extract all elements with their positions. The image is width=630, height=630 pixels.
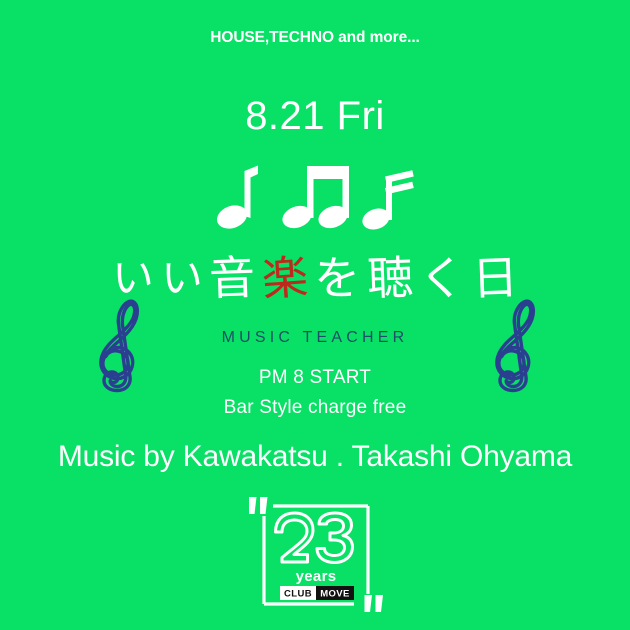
event-flyer: HOUSE,TECHNO and more... 8.21 Fri bbox=[0, 0, 630, 630]
title-char-4: を bbox=[313, 242, 361, 314]
charge-line: Bar Style charge free bbox=[0, 397, 630, 419]
quote-close-icon bbox=[365, 595, 384, 612]
artists-line: Music by Kawakatsu . Takashi Ohyama bbox=[0, 440, 630, 474]
beamed-eighth-notes-icon bbox=[280, 160, 354, 232]
sixteenth-note-icon bbox=[360, 160, 418, 232]
treble-clef-right-icon bbox=[478, 298, 548, 398]
anniversary-number bbox=[276, 513, 353, 563]
title-char-1: い bbox=[160, 242, 203, 314]
eighth-note-icon bbox=[212, 160, 274, 232]
brand-club: CLUB bbox=[284, 589, 312, 600]
years-label: years bbox=[296, 568, 337, 585]
title-char-5: 聴 bbox=[365, 242, 413, 314]
brand-move: MOVE bbox=[320, 589, 350, 600]
event-date: 8.21 Fri bbox=[0, 94, 630, 139]
title-char-3: 楽 bbox=[259, 241, 310, 314]
anniversary-badge: years CLUB MOVE bbox=[246, 494, 386, 616]
quote-open-icon bbox=[249, 497, 268, 514]
music-notes-row bbox=[0, 160, 630, 232]
title-char-6: く bbox=[418, 242, 466, 314]
genre-line: HOUSE,TECHNO and more... bbox=[0, 29, 630, 47]
treble-clef-left-icon bbox=[82, 298, 152, 398]
club-move-logo: CLUB MOVE bbox=[280, 586, 354, 600]
title-char-2: 音 bbox=[208, 242, 256, 314]
